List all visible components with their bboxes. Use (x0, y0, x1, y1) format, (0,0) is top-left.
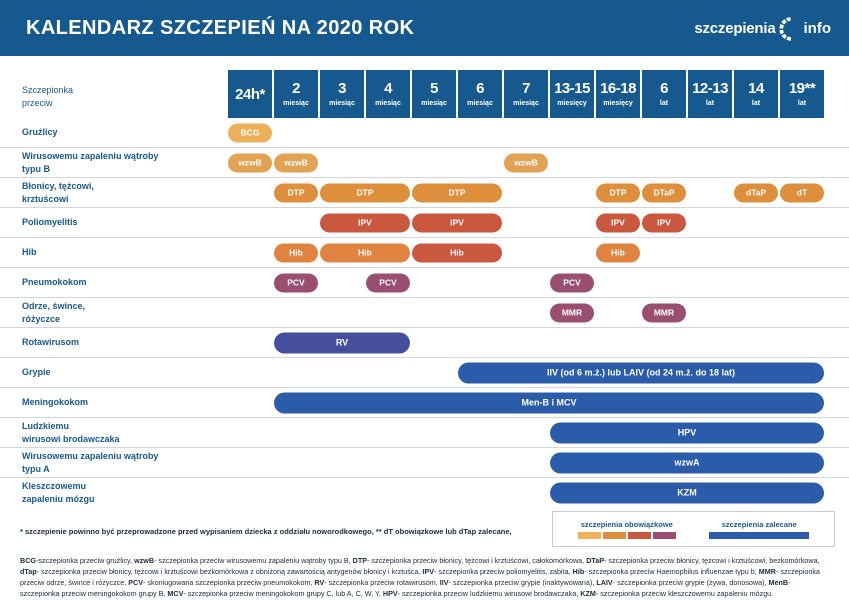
vaccine-pill[interactable]: PCV (550, 273, 594, 292)
calendar-row: Błonicy, tężcowi,krztuścowiDTPDTPDTPDTPD… (0, 177, 849, 207)
row-track: IPVIPVIPVIPV (228, 208, 849, 237)
column-header-value: 12-13 (692, 81, 728, 96)
row-label-line: typu B (22, 163, 220, 175)
legend-mandatory-label: szczepienia obowiązkowe (581, 520, 673, 529)
column-header-9: 16-18miesięcy (596, 70, 640, 118)
column-header-value: 2 (292, 81, 300, 96)
vaccine-pill[interactable]: wzwA (550, 452, 824, 473)
vaccine-pill[interactable]: RV (274, 332, 410, 353)
column-header-11: 12-13lat (688, 70, 732, 118)
circle-c-icon (777, 15, 804, 42)
vaccine-pill[interactable]: Hib (274, 243, 318, 262)
row-label-line: krztuścowi (22, 193, 220, 205)
vaccine-pill[interactable]: IPV (596, 213, 640, 232)
row-label-line: Meningokokom (22, 396, 220, 408)
column-header-unit: lat (660, 100, 668, 107)
column-header-1: 24h* (228, 70, 272, 118)
row-label-line: Wirusowemu zapaleniu wątroby (22, 450, 220, 462)
legend-swatch (653, 532, 676, 539)
vaccine-pill[interactable]: HPV (550, 422, 824, 443)
calendar-row: GruźlicyBCG (0, 118, 849, 147)
row-label: Kleszczowemuzapaleniu mózgu (0, 480, 228, 504)
vaccine-pill[interactable]: KZM (550, 482, 824, 503)
column-header-unit: miesięcy (557, 100, 587, 107)
column-header-value: 4 (384, 81, 392, 96)
vaccine-pill[interactable]: PCV (274, 273, 318, 292)
vaccine-pill[interactable]: IPV (642, 213, 686, 232)
column-header-value: 5 (430, 81, 438, 96)
row-track: HibHibHibHib (228, 238, 849, 267)
row-label-line: różyczce (22, 313, 220, 325)
column-header-unit: lat (706, 100, 714, 107)
vaccine-pill[interactable]: wzwB (228, 153, 272, 172)
row-label: Wirusowemu zapaleniu wątrobytypu A (0, 450, 228, 474)
vaccine-pill[interactable]: DTP (274, 183, 318, 202)
column-header-value: 6 (660, 81, 668, 96)
column-header-7: 7miesiąc (504, 70, 548, 118)
row-label: Wirusowemu zapaleniu wątrobytypu B (0, 150, 228, 174)
calendar-row: PneumokokomPCVPCVPCV (0, 267, 849, 297)
row-label-line: Pneumokokom (22, 276, 220, 288)
column-header-value: 16-18 (600, 81, 636, 96)
row-label: Pneumokokom (0, 276, 228, 288)
row-label-line: Gruźlicy (22, 126, 220, 138)
row-track: RV (228, 328, 849, 357)
legend-recommended: szczepienia zalecane (709, 520, 809, 539)
column-header-unit: lat (752, 100, 760, 107)
calendar-rows: GruźlicyBCGWirusowemu zapaleniu wątrobyt… (0, 118, 849, 507)
vaccine-pill[interactable]: MMR (550, 303, 594, 322)
legend-mandatory-swatches (578, 532, 676, 539)
column-header-value: 7 (522, 81, 530, 96)
calendar-row: RotawirusomRV (0, 327, 849, 357)
legend-recommended-bar (709, 532, 809, 539)
column-header-unit: miesiąc (329, 100, 355, 107)
row-label: Rotawirusom (0, 336, 228, 348)
abbreviations-text: BCG-szczepionka przeciw gruźlicy, wzwB- … (20, 555, 832, 600)
legend-swatch (628, 532, 651, 539)
logo-wordmark: szczepienia (694, 20, 775, 37)
column-header-value: 3 (338, 81, 346, 96)
calendar-row: Wirusowemu zapaleniu wątrobytypu BwzwBwz… (0, 147, 849, 177)
row-label-line: Poliomyelitis (22, 216, 220, 228)
vaccine-pill[interactable]: DTP (596, 183, 640, 202)
corner-label-line1: Szczepionka (22, 84, 73, 97)
footnote-text: * szczepienie powinno być przeprowadzone… (20, 527, 560, 538)
column-header-unit: miesiąc (375, 100, 401, 107)
vaccine-pill[interactable]: Hib (596, 243, 640, 262)
column-header-unit: lat (798, 100, 806, 107)
vaccine-pill[interactable]: dTaP (734, 183, 778, 202)
column-header-value: 13-15 (554, 81, 590, 96)
column-header-3: 3miesiąc (320, 70, 364, 118)
calendar-row: MeningokokomMen-B i MCV (0, 387, 849, 417)
page-header: KALENDARZ SZCZEPIEŃ NA 2020 ROK szczepie… (0, 0, 849, 56)
calendar-row: Odrze, śwince,różyczceMMRMMR (0, 297, 849, 327)
column-header-unit: miesiąc (283, 100, 309, 107)
row-label: Błonicy, tężcowi,krztuścowi (0, 180, 228, 204)
vaccine-pill[interactable]: IPV (412, 213, 502, 232)
column-header-5: 5miesiąc (412, 70, 456, 118)
column-header-value: 14 (748, 81, 764, 96)
row-label-line: zapaleniu mózgu (22, 493, 220, 505)
column-header-8: 13-15miesięcy (550, 70, 594, 118)
vaccine-pill[interactable]: dT (780, 183, 824, 202)
row-track: wzwA (228, 448, 849, 477)
row-track: BCG (228, 118, 849, 147)
row-label-line: Wirusowemu zapaleniu wątroby (22, 150, 220, 162)
column-header-2: 2miesiąc (274, 70, 318, 118)
row-label-line: Kleszczowemu (22, 480, 220, 492)
row-track: HPV (228, 418, 849, 447)
column-header-value: 24h* (235, 87, 265, 102)
column-header-13: 19**lat (780, 70, 824, 118)
legend: szczepienia obowiązkowe szczepienia zale… (552, 511, 835, 547)
calendar-row: PoliomyelitisIPVIPVIPVIPV (0, 207, 849, 237)
row-label: Gruźlicy (0, 126, 228, 138)
vaccine-pill[interactable]: IIV (od 6 m.ż.) lub LAIV (od 24 m.ż. do … (458, 362, 824, 383)
legend-swatch (603, 532, 626, 539)
vaccine-pill[interactable]: MMR (642, 303, 686, 322)
row-track: KZM (228, 478, 849, 507)
vaccine-pill[interactable]: DTaP (642, 183, 686, 202)
row-track: wzwBwzwBwzwB (228, 148, 849, 177)
column-header-12: 14lat (734, 70, 778, 118)
vaccine-pill[interactable]: DTP (412, 183, 502, 202)
row-label-line: wirusowi brodawczaka (22, 433, 220, 445)
column-header-value: 6 (476, 81, 484, 96)
row-label-line: Odrze, śwince, (22, 300, 220, 312)
vaccine-pill[interactable]: Hib (412, 243, 502, 262)
page-title: KALENDARZ SZCZEPIEŃ NA 2020 ROK (26, 17, 414, 40)
row-label-line: typu A (22, 463, 220, 475)
column-header-6: 6miesiąc (458, 70, 502, 118)
corner-label-line2: przeciw (22, 97, 73, 110)
vaccine-pill[interactable]: wzwB (504, 153, 548, 172)
column-header-4: 4miesiąc (366, 70, 410, 118)
legend-swatch (578, 532, 601, 539)
calendar-row: GrypieIIV (od 6 m.ż.) lub LAIV (od 24 m.… (0, 357, 849, 387)
brand-logo: szczepienia info (694, 15, 831, 42)
row-track: MMRMMR (228, 298, 849, 327)
vaccine-pill[interactable]: IPV (320, 213, 410, 232)
vaccine-pill[interactable]: Men-B i MCV (274, 392, 824, 413)
column-header-unit: miesiąc (513, 100, 539, 107)
vaccine-pill[interactable]: Hib (320, 243, 410, 262)
legend-recommended-label: szczepienia zalecane (722, 520, 797, 529)
calendar-row: Kleszczowemuzapaleniu mózguKZM (0, 477, 849, 507)
calendar-grid: Szczepionka przeciw 24h*2miesiąc3miesiąc… (0, 56, 849, 507)
vaccine-pill[interactable]: DTP (320, 183, 410, 202)
vaccine-pill[interactable]: PCV (366, 273, 410, 292)
row-track: PCVPCVPCV (228, 268, 849, 297)
corner-label: Szczepionka przeciw (22, 84, 73, 110)
column-header-unit: miesiąc (467, 100, 493, 107)
column-header-value: 19** (789, 81, 815, 96)
row-label-line: Rotawirusom (22, 336, 220, 348)
row-track: Men-B i MCV (228, 388, 849, 417)
row-label-line: Grypie (22, 366, 220, 378)
logo-info-text: info (804, 20, 832, 37)
vaccine-pill[interactable]: BCG (228, 123, 272, 142)
vaccination-calendar-page: KALENDARZ SZCZEPIEŃ NA 2020 ROK szczepie… (0, 0, 849, 600)
calendar-row: Wirusowemu zapaleniu wątrobytypu AwzwA (0, 447, 849, 477)
column-header-unit: miesięcy (603, 100, 633, 107)
calendar-row: HibHibHibHibHib (0, 237, 849, 267)
row-label: Ludzkiemuwirusowi brodawczaka (0, 420, 228, 444)
column-header-10: 6lat (642, 70, 686, 118)
column-headers: 24h*2miesiąc3miesiąc4miesiąc5miesiąc6mie… (228, 70, 849, 118)
row-label: Meningokokom (0, 396, 228, 408)
vaccine-pill[interactable]: wzwB (274, 153, 318, 172)
row-track: DTPDTPDTPDTPDTaPdTaPdT (228, 178, 849, 207)
row-label: Poliomyelitis (0, 216, 228, 228)
row-label-line: Hib (22, 246, 220, 258)
column-header-unit: miesiąc (421, 100, 447, 107)
legend-mandatory: szczepienia obowiązkowe (578, 520, 676, 539)
row-track: IIV (od 6 m.ż.) lub LAIV (od 24 m.ż. do … (228, 358, 849, 387)
row-label: Grypie (0, 366, 228, 378)
row-label-line: Ludzkiemu (22, 420, 220, 432)
row-label: Odrze, śwince,różyczce (0, 300, 228, 324)
row-label: Hib (0, 246, 228, 258)
calendar-row: Ludzkiemuwirusowi brodawczakaHPV (0, 417, 849, 447)
row-label-line: Błonicy, tężcowi, (22, 180, 220, 192)
